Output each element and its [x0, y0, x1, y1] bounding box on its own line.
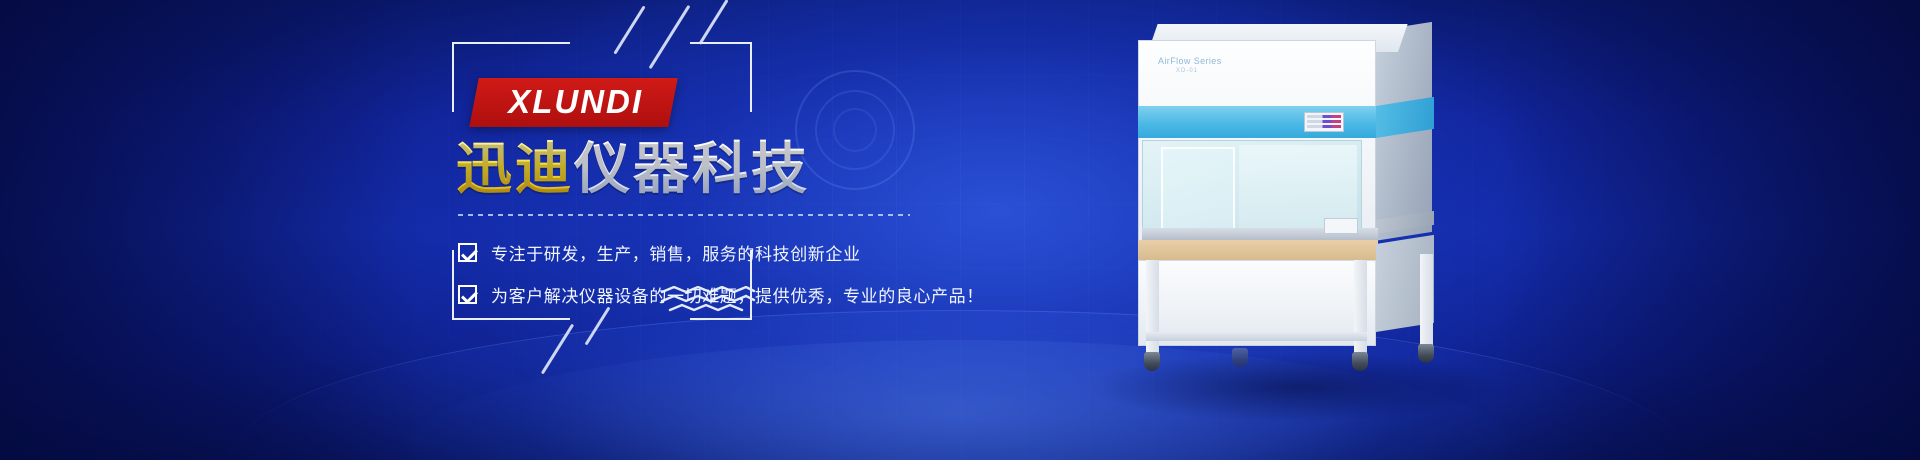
- promo-banner: XLUNDI 迅迪仪器科技 专注于研发，生产，销售，服务的科技创新企业 为客户解…: [0, 0, 1920, 460]
- caster-wheel: [1418, 344, 1434, 363]
- list-item: 专注于研发，生产，销售，服务的科技创新企业: [458, 240, 922, 265]
- product-model-label: XD-01: [1176, 68, 1222, 74]
- bullet-text: 为客户解决仪器设备的一切难题，提供优秀，专业的良心产品！: [491, 282, 984, 307]
- product-brand-label: AirFlow Series XD-01: [1158, 56, 1222, 74]
- check-icon: [458, 243, 477, 262]
- stand-leg: [1420, 254, 1433, 350]
- page-title: 迅迪仪器科技: [456, 141, 922, 200]
- stand-leg: [1146, 260, 1159, 356]
- feature-bullet-list: 专注于研发，生产，销售，服务的科技创新企业 为客户解决仪器设备的一切难题，提供优…: [458, 240, 922, 307]
- bullet-text: 专注于研发，生产，销售，服务的科技创新企业: [491, 240, 861, 265]
- list-item: 为客户解决仪器设备的一切难题，提供优秀，专业的良心产品！: [458, 282, 922, 307]
- page-title-white-part: 仪器科技: [574, 137, 810, 202]
- check-icon: [458, 285, 477, 304]
- brand-logo-badge: XLUNDI: [469, 78, 677, 127]
- stand-leg: [1354, 260, 1367, 356]
- caster-wheel: [1232, 348, 1248, 367]
- sash-frame: [1161, 147, 1235, 231]
- title-divider: [458, 214, 910, 216]
- control-panel-icon: [1304, 112, 1344, 132]
- page-title-gold-part: 迅迪: [456, 137, 574, 202]
- product-image-clean-bench: AirFlow Series XD-01: [1128, 22, 1458, 422]
- caster-wheel: [1144, 352, 1160, 371]
- front-apron: [1138, 240, 1378, 262]
- brand-logo-text: XLUNDI: [508, 85, 643, 118]
- product-label-tag: [1324, 218, 1358, 234]
- caster-wheel: [1352, 352, 1368, 371]
- banner-content: XLUNDI 迅迪仪器科技 专注于研发，生产，销售，服务的科技创新企业 为客户解…: [452, 78, 922, 324]
- stand-cross-rail: [1146, 332, 1367, 341]
